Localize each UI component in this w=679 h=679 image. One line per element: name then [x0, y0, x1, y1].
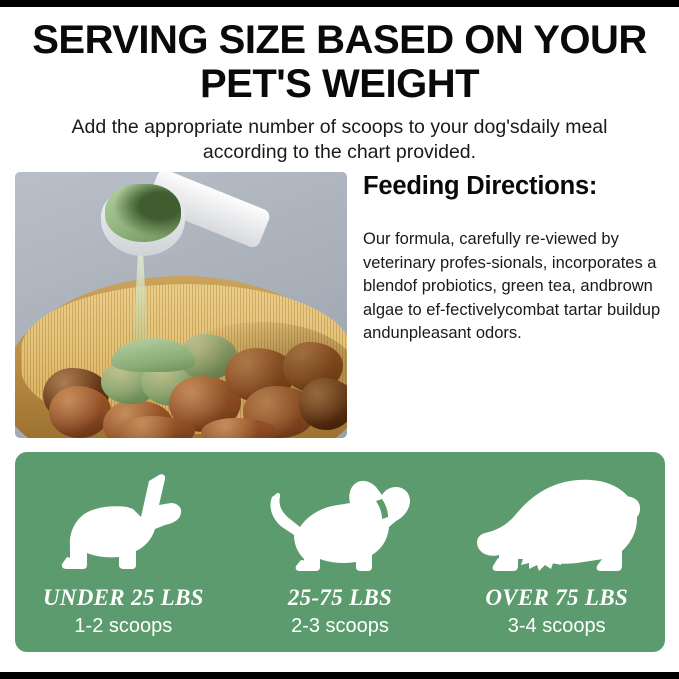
bowl-shadow	[165, 322, 347, 434]
feeding-directions: Feeding Directions: Our formula, careful…	[363, 172, 663, 346]
product-photo	[15, 172, 347, 438]
weight-range-label: OVER 75 LBS	[485, 585, 628, 611]
page-subtitle: Add the appropriate number of scoops to …	[60, 115, 619, 165]
weight-tier-under-25: UNDER 25 LBS 1-2 scoops	[15, 452, 232, 652]
bottom-border-bar	[0, 672, 679, 679]
weight-range-label: 25-75 LBS	[288, 585, 392, 611]
green-powder	[105, 184, 181, 242]
feeding-directions-title: Feeding Directions:	[363, 172, 663, 201]
scoops-label: 2-3 scoops	[291, 615, 389, 638]
weight-range-label: UNDER 25 LBS	[43, 585, 204, 611]
header: SERVING SIZE BASED ON YOUR PET'S WEIGHT …	[0, 18, 679, 165]
corgi-silhouette-icon	[53, 473, 193, 577]
scoops-label: 3-4 scoops	[508, 615, 606, 638]
top-border-bar	[0, 0, 679, 7]
weight-chart-panel: UNDER 25 LBS 1-2 scoops 25-75 LBS 2-3 sc…	[15, 452, 665, 652]
feeding-directions-body: Our formula, carefully re-viewed by vete…	[363, 228, 663, 346]
scoops-label: 1-2 scoops	[74, 615, 172, 638]
weight-tier-over-75: OVER 75 LBS 3-4 scoops	[448, 452, 665, 652]
weight-tier-25-75: 25-75 LBS 2-3 scoops	[232, 452, 449, 652]
page-title: SERVING SIZE BASED ON YOUR PET'S WEIGHT	[30, 18, 649, 106]
beagle-silhouette-icon	[264, 473, 416, 577]
middle-section: Feeding Directions: Our formula, careful…	[0, 172, 679, 440]
retriever-silhouette-icon	[473, 473, 641, 577]
